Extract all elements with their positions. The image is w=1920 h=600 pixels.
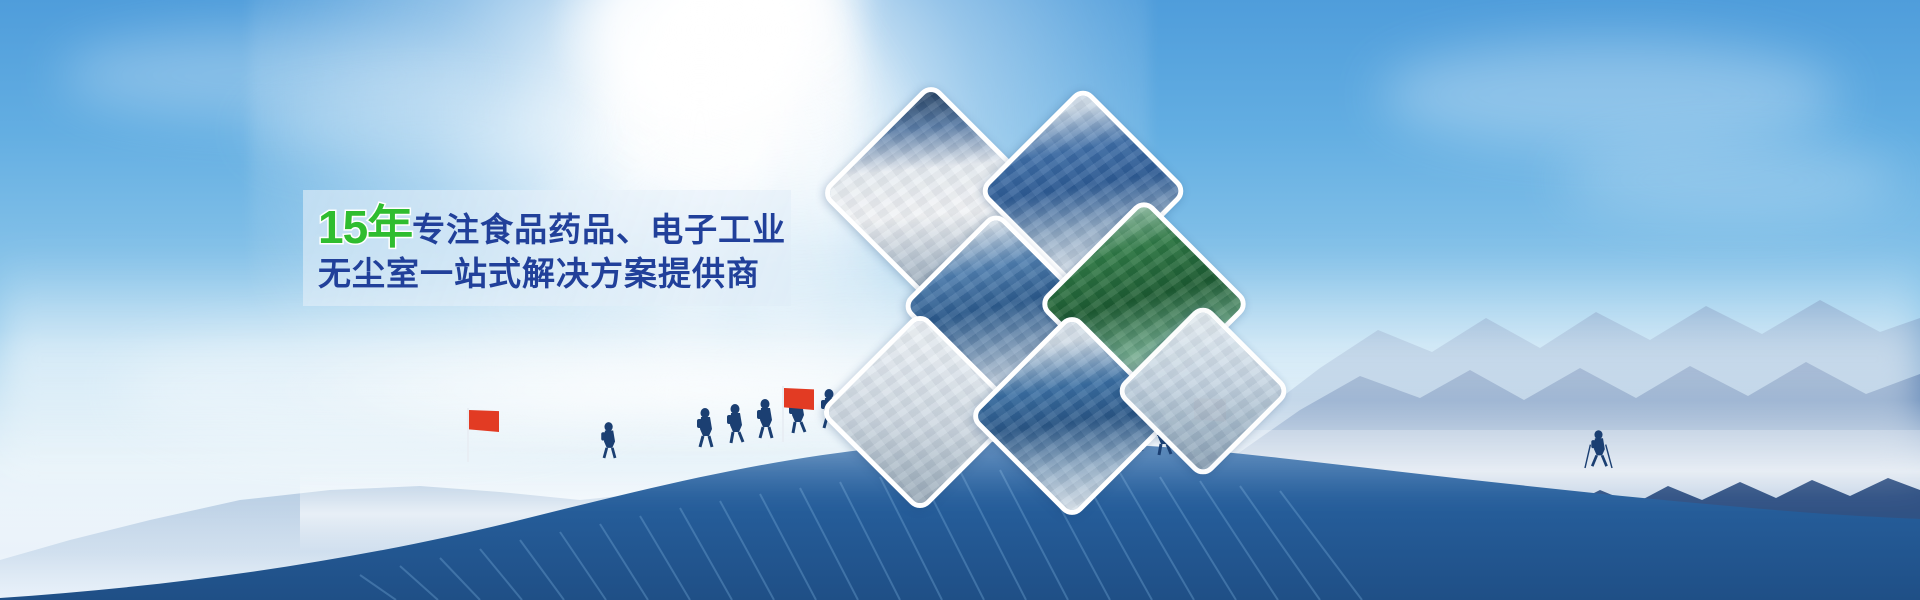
headline-text: 15年专注食品药品、电子工业 无尘室一站式解决方案提供商 — [318, 202, 788, 292]
diamond-photo-grid — [840, 88, 1280, 470]
hero-banner: 15年专注食品药品、电子工业 无尘室一站式解决方案提供商 — [0, 0, 1920, 600]
flag-center — [782, 386, 822, 442]
headline-line-2-text: 无尘室一站式解决方案提供商 — [318, 256, 788, 293]
flag-left — [467, 408, 507, 462]
headline-line-1: 15年专注食品药品、电子工业 — [318, 202, 788, 254]
headline-line-1-text: 专注食品药品、电子工业 — [412, 211, 786, 248]
years-number: 15年 — [318, 201, 412, 253]
